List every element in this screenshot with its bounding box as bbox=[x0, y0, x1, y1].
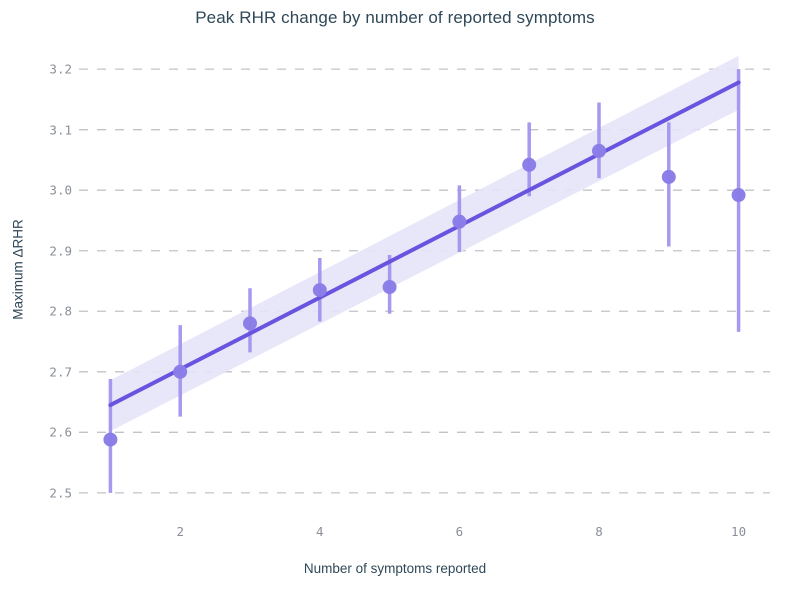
x-tick-label: 6 bbox=[456, 524, 464, 539]
y-tick-label: 2.6 bbox=[26, 425, 72, 440]
chart-figure: Peak RHR change by number of reported sy… bbox=[0, 0, 790, 589]
plot-area bbox=[79, 51, 770, 511]
y-tick-label: 2.8 bbox=[26, 304, 72, 319]
y-tick-label: 2.5 bbox=[26, 485, 72, 500]
y-tick-label: 3.1 bbox=[26, 122, 72, 137]
x-axis-tick-labels: 246810 bbox=[79, 524, 770, 544]
x-tick-label: 8 bbox=[595, 524, 603, 539]
y-tick-label: 2.7 bbox=[26, 364, 72, 379]
x-tick-label: 4 bbox=[316, 524, 324, 539]
y-tick-label: 2.9 bbox=[26, 243, 72, 258]
y-tick-label: 3.2 bbox=[26, 62, 72, 77]
x-tick-label: 2 bbox=[176, 524, 184, 539]
plot-svg bbox=[79, 51, 770, 511]
regression-line bbox=[110, 82, 738, 405]
y-axis-tick-labels: 2.52.62.72.82.93.03.13.2 bbox=[0, 51, 72, 511]
data-points bbox=[103, 144, 745, 447]
y-tick-label: 3.0 bbox=[26, 183, 72, 198]
chart-title: Peak RHR change by number of reported sy… bbox=[0, 8, 790, 28]
x-tick-label: 10 bbox=[731, 524, 746, 539]
x-axis-title: Number of symptoms reported bbox=[0, 561, 790, 576]
